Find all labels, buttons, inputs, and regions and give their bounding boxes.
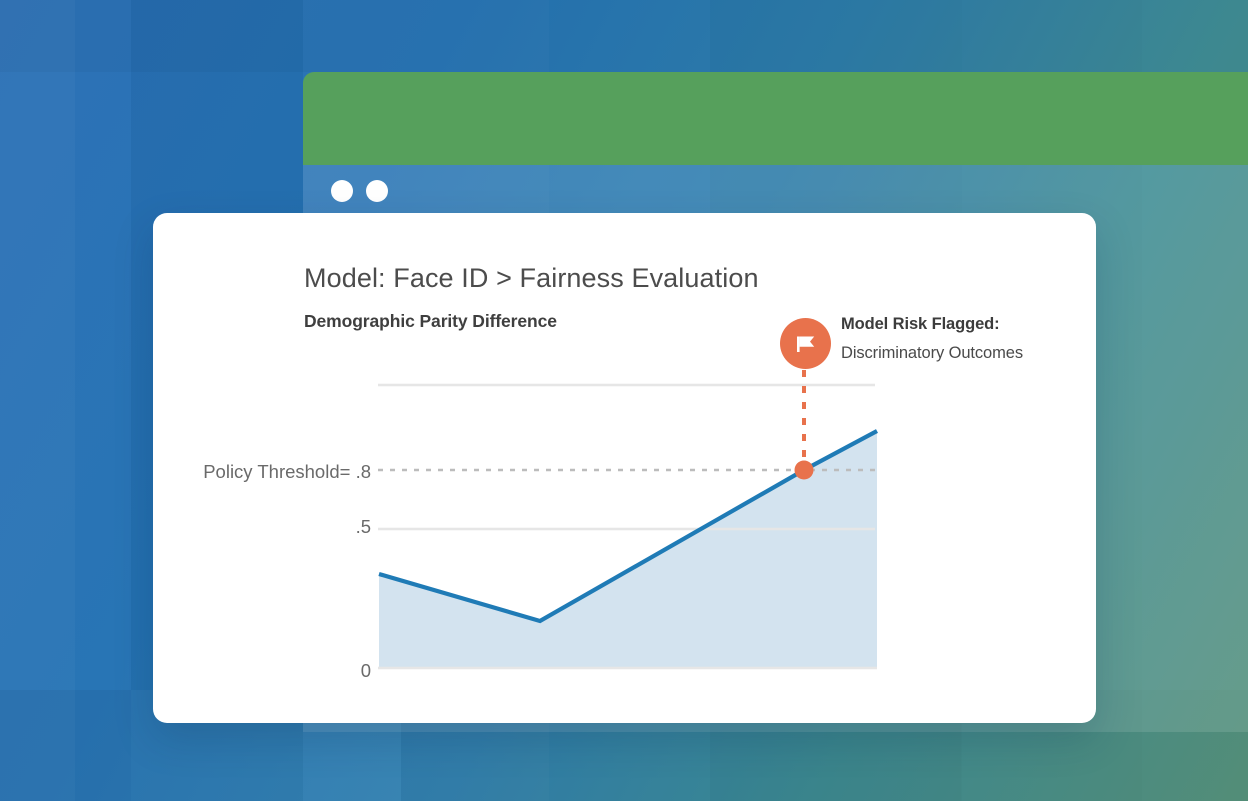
risk-annotation-detail: Discriminatory Outcomes bbox=[841, 345, 1091, 362]
axis-label-threshold: Policy Threshold= .8 bbox=[203, 461, 371, 483]
screenshot-stage: Model: Face ID > Fairness Evaluation Dem… bbox=[0, 0, 1248, 801]
axis-label-zero: 0 bbox=[361, 660, 371, 682]
risk-marker-dot[interactable] bbox=[795, 461, 814, 480]
axis-label-mid: .5 bbox=[356, 516, 371, 538]
chart-area: Policy Threshold= .8 .5 0 Model Risk Fla… bbox=[153, 213, 1096, 723]
risk-flag-badge[interactable] bbox=[780, 318, 831, 369]
browser-titlebar bbox=[303, 72, 1248, 165]
report-card: Model: Face ID > Fairness Evaluation Dem… bbox=[153, 213, 1096, 723]
risk-annotation-title: Model Risk Flagged: bbox=[841, 316, 1091, 333]
risk-annotation: Model Risk Flagged: Discriminatory Outco… bbox=[841, 316, 1091, 361]
flag-icon bbox=[793, 332, 818, 356]
